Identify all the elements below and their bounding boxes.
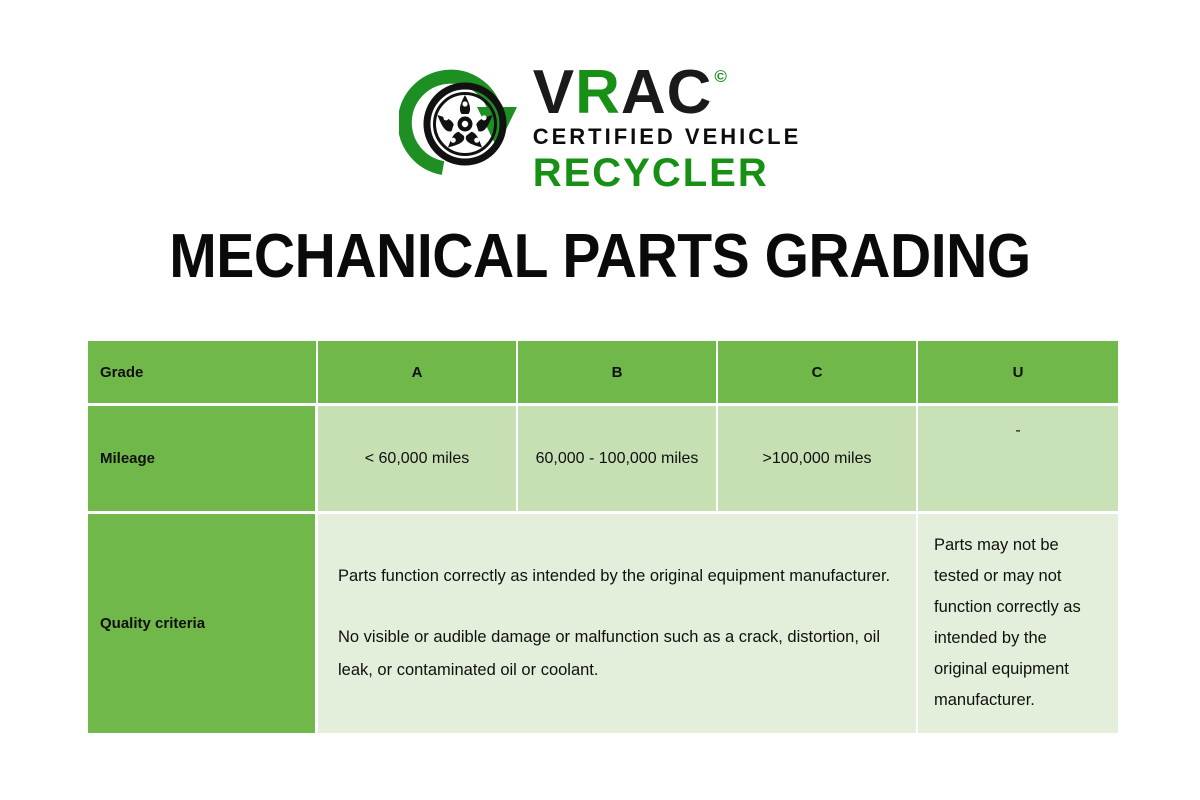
brand-letters-ac: AC [621,64,713,122]
brand-name: VRAC© [533,64,802,122]
header-cell-u: U [918,341,1118,403]
table-row-mileage: Mileage < 60,000 miles 60,000 - 100,000 … [88,403,1118,511]
brand-letter-r: R [575,64,621,122]
mileage-cell-u: - [918,403,1118,511]
page-root: VRAC© CERTIFIED VEHICLE RECYCLER MECHANI… [0,0,1200,800]
copyright-icon: © [714,68,728,85]
header-cell-c: C [718,341,918,403]
recycling-wheel-logo-icon [399,52,527,192]
page-title: MECHANICAL PARTS GRADING [48,222,1152,292]
table-header-row: Grade A B C U [88,341,1118,403]
table-row-quality-criteria: Quality criteria Parts function correctl… [88,511,1118,733]
quality-cell-u: Parts may not be tested or may not funct… [918,511,1118,733]
mileage-cell-a: < 60,000 miles [318,403,518,511]
quality-cell-abc: Parts function correctly as intended by … [318,511,918,733]
mileage-cell-b: 60,000 - 100,000 miles [518,403,718,511]
brand-recycler-word: RECYCLER [533,152,802,194]
logo-wordmark: VRAC© CERTIFIED VEHICLE RECYCLER [533,52,802,194]
row-label-mileage: Mileage [88,403,318,511]
logo-inner: VRAC© CERTIFIED VEHICLE RECYCLER [399,52,802,194]
header-cell-grade: Grade [88,341,318,403]
brand-letter-v: V [533,64,575,122]
quality-paragraph-2: No visible or audible damage or malfunct… [338,621,894,687]
brand-logo: VRAC© CERTIFIED VEHICLE RECYCLER [0,52,1200,194]
quality-paragraph-1: Parts function correctly as intended by … [338,560,894,593]
header-cell-a: A [318,341,518,403]
mechanical-parts-grading-table: Grade A B C U Mileage < 60,000 miles 60,… [88,341,1118,733]
brand-tagline: CERTIFIED VEHICLE [533,124,802,150]
header-cell-b: B [518,341,718,403]
row-label-quality-criteria: Quality criteria [88,511,318,733]
mileage-cell-c: >100,000 miles [718,403,918,511]
